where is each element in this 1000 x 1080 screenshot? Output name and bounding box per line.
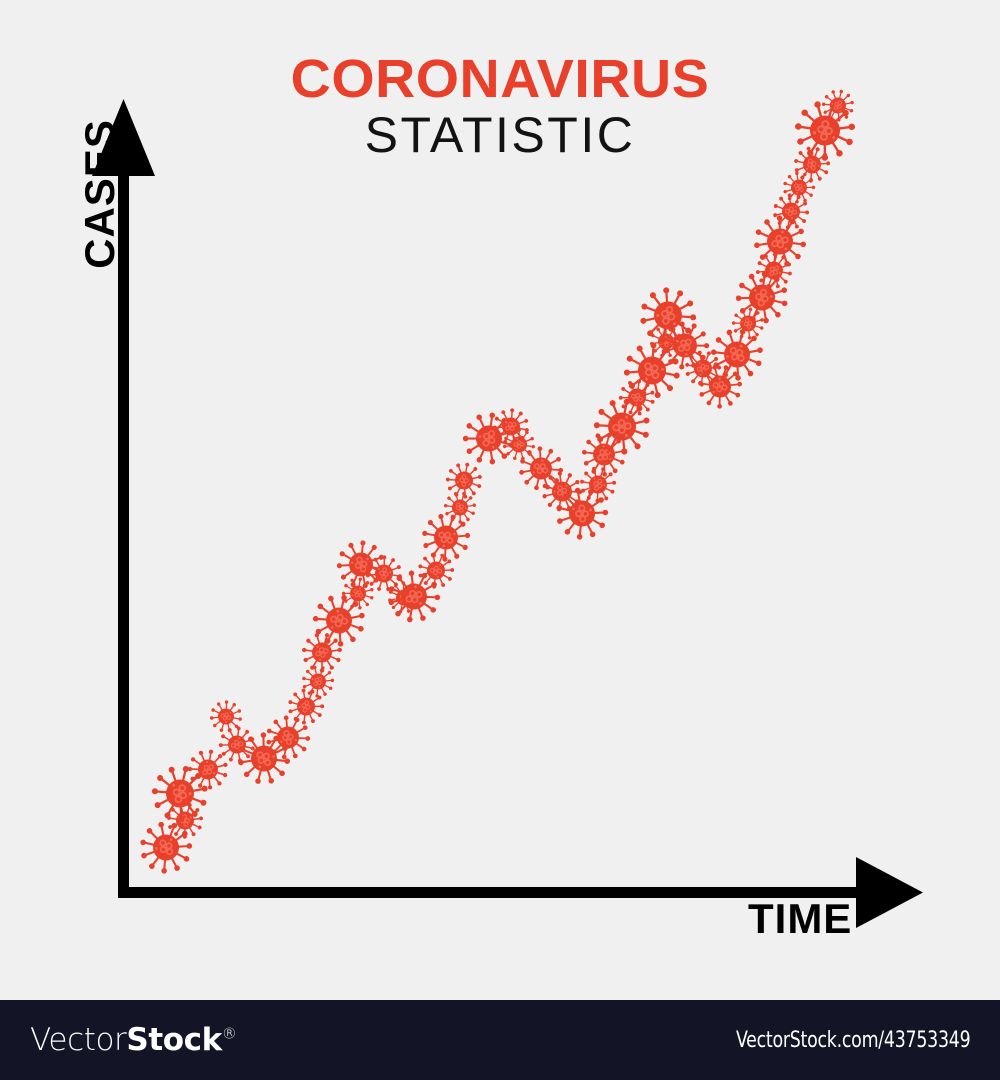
chart-plot-area xyxy=(0,0,1000,1000)
coronavirus-icon xyxy=(820,87,857,129)
poster-canvas: CORONAVIRUS STATISTIC CASES TIME VectorS… xyxy=(0,0,1000,1080)
logo-text-vector: Vector xyxy=(30,1022,126,1058)
registered-mark-icon: ® xyxy=(222,1025,237,1043)
vectorstock-logo: VectorStock® xyxy=(30,1022,236,1058)
logo-text-stock: Stock xyxy=(126,1022,221,1058)
vectorstock-url: VectorStock.com/43753349 xyxy=(736,1028,970,1053)
watermark-footer: VectorStock® VectorStock.com/43753349 xyxy=(0,1000,1000,1080)
